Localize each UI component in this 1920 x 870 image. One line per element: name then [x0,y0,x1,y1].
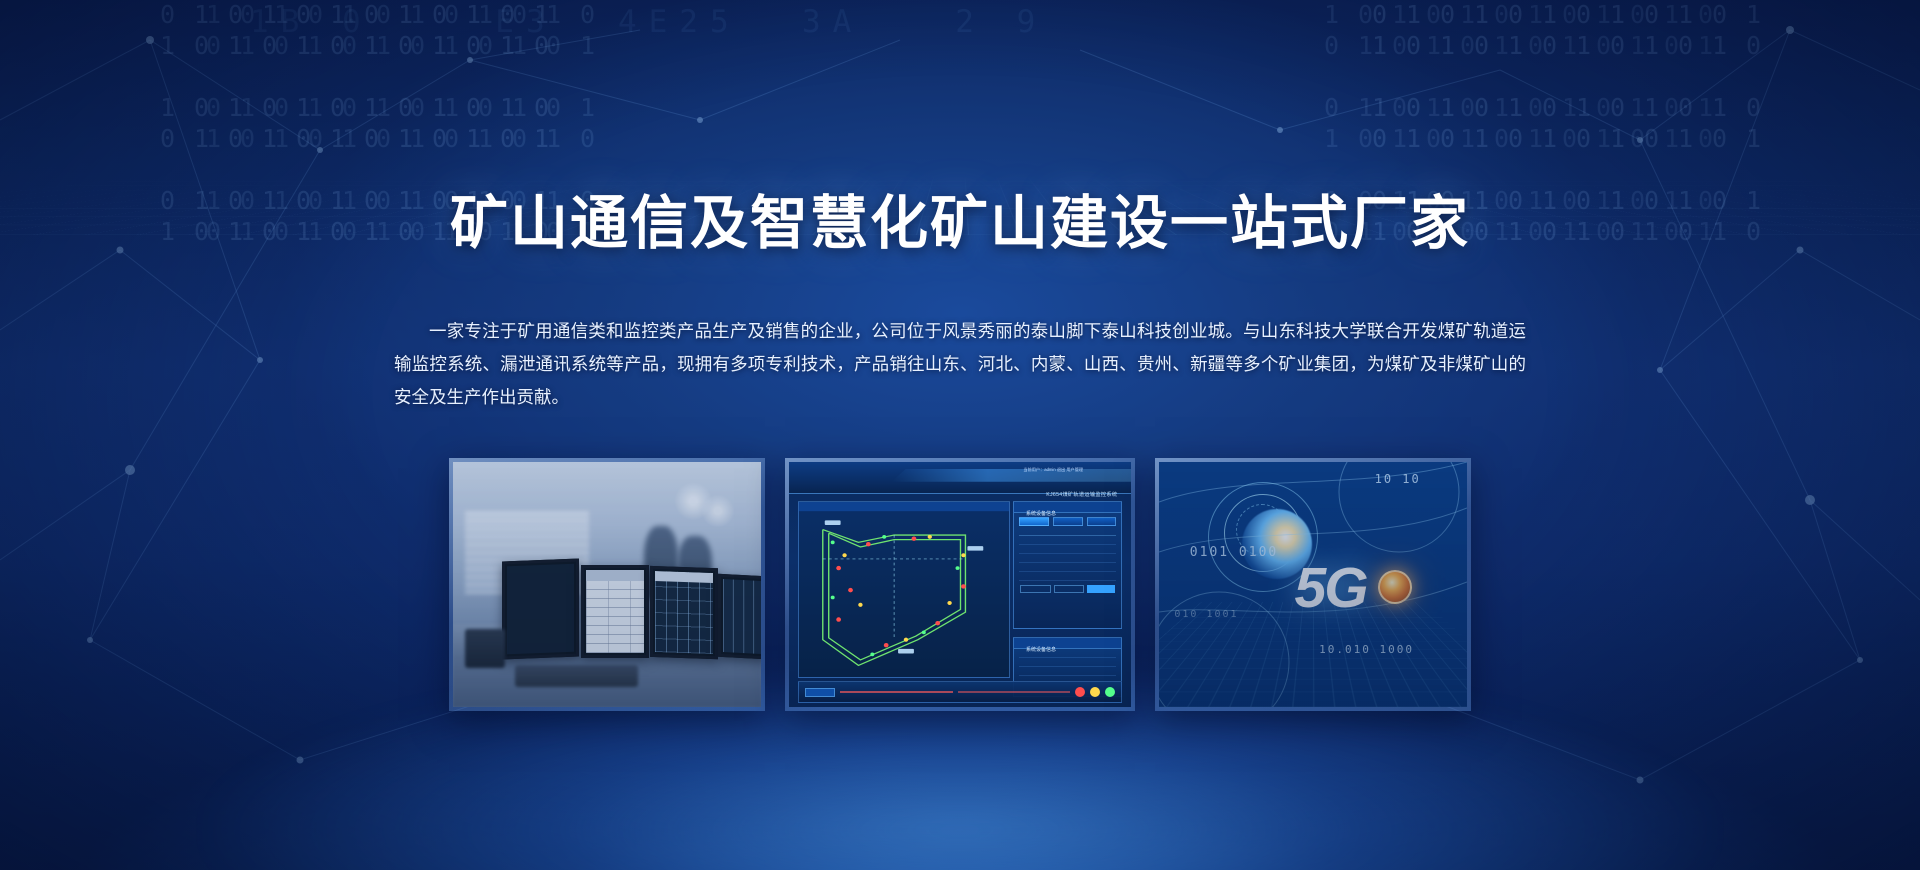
scada-table-row[interactable] [1014,554,1121,563]
scada-table-row[interactable] [1014,649,1121,658]
scada-tab-0[interactable] [1019,517,1049,526]
scada-table-header [1014,528,1121,536]
image-gallery: 2022-11-07 09:28:04 星期一 KJ654煤矿轨道运输监控系统 … [449,458,1471,711]
gallery-item-5g-technology[interactable]: 0101 0100 10.010 1000 10 10 010 1001 5G [1155,458,1471,711]
scada-tab-2[interactable] [1087,517,1117,526]
control-room-scene [453,462,761,707]
scada-screen: 2022-11-07 09:28:04 星期一 KJ654煤矿轨道运输监控系统 … [789,462,1131,707]
five-g-scene: 0101 0100 10.010 1000 10 10 010 1001 5G [1159,462,1467,707]
scada-user-bar: 当前用户：admin 退出 用户管理 [1023,467,1083,473]
blue-tint [453,462,761,707]
scada-pager[interactable] [1014,581,1121,597]
scada-table-row[interactable] [1014,563,1121,572]
atmosphere-haze [1159,462,1467,707]
five-g-image: 0101 0100 10.010 1000 10 10 010 1001 5G [1159,462,1467,707]
scada-device-panel[interactable]: 系统设备信息 [1013,501,1122,629]
hero-banner: 1B 0 E3 4E25 3A 2 9 10 01 10 01 10 01 10… [0,0,1920,870]
page-title: 矿山通信及智慧化矿山建设一站式厂家 [450,176,1470,260]
scada-table-row[interactable] [1014,536,1121,545]
scada-side-panels: 系统设备信息 [1013,501,1122,697]
scada-table-row[interactable] [1014,572,1121,581]
scada-track-diagram[interactable] [798,501,1010,677]
scada-system-image: 2022-11-07 09:28:04 星期一 KJ654煤矿轨道运输监控系统 … [789,462,1131,707]
gallery-item-control-room[interactable] [449,458,765,711]
scada-table-row[interactable] [1014,545,1121,554]
scada-table-row[interactable] [1014,658,1121,667]
scada-table-row[interactable] [1014,667,1121,676]
scada-status-bar [798,681,1123,703]
gallery-item-scada-system[interactable]: 2022-11-07 09:28:04 星期一 KJ654煤矿轨道运输监控系统 … [785,458,1135,711]
scada-title: KJ654煤矿轨道运输监控系统 [1046,491,1117,498]
company-description: 一家专注于矿用通信类和监控类产品生产及销售的企业，公司位于风景秀丽的泰山脚下泰山… [394,315,1526,414]
control-room-image [453,462,761,707]
scada-tab-1[interactable] [1053,517,1083,526]
